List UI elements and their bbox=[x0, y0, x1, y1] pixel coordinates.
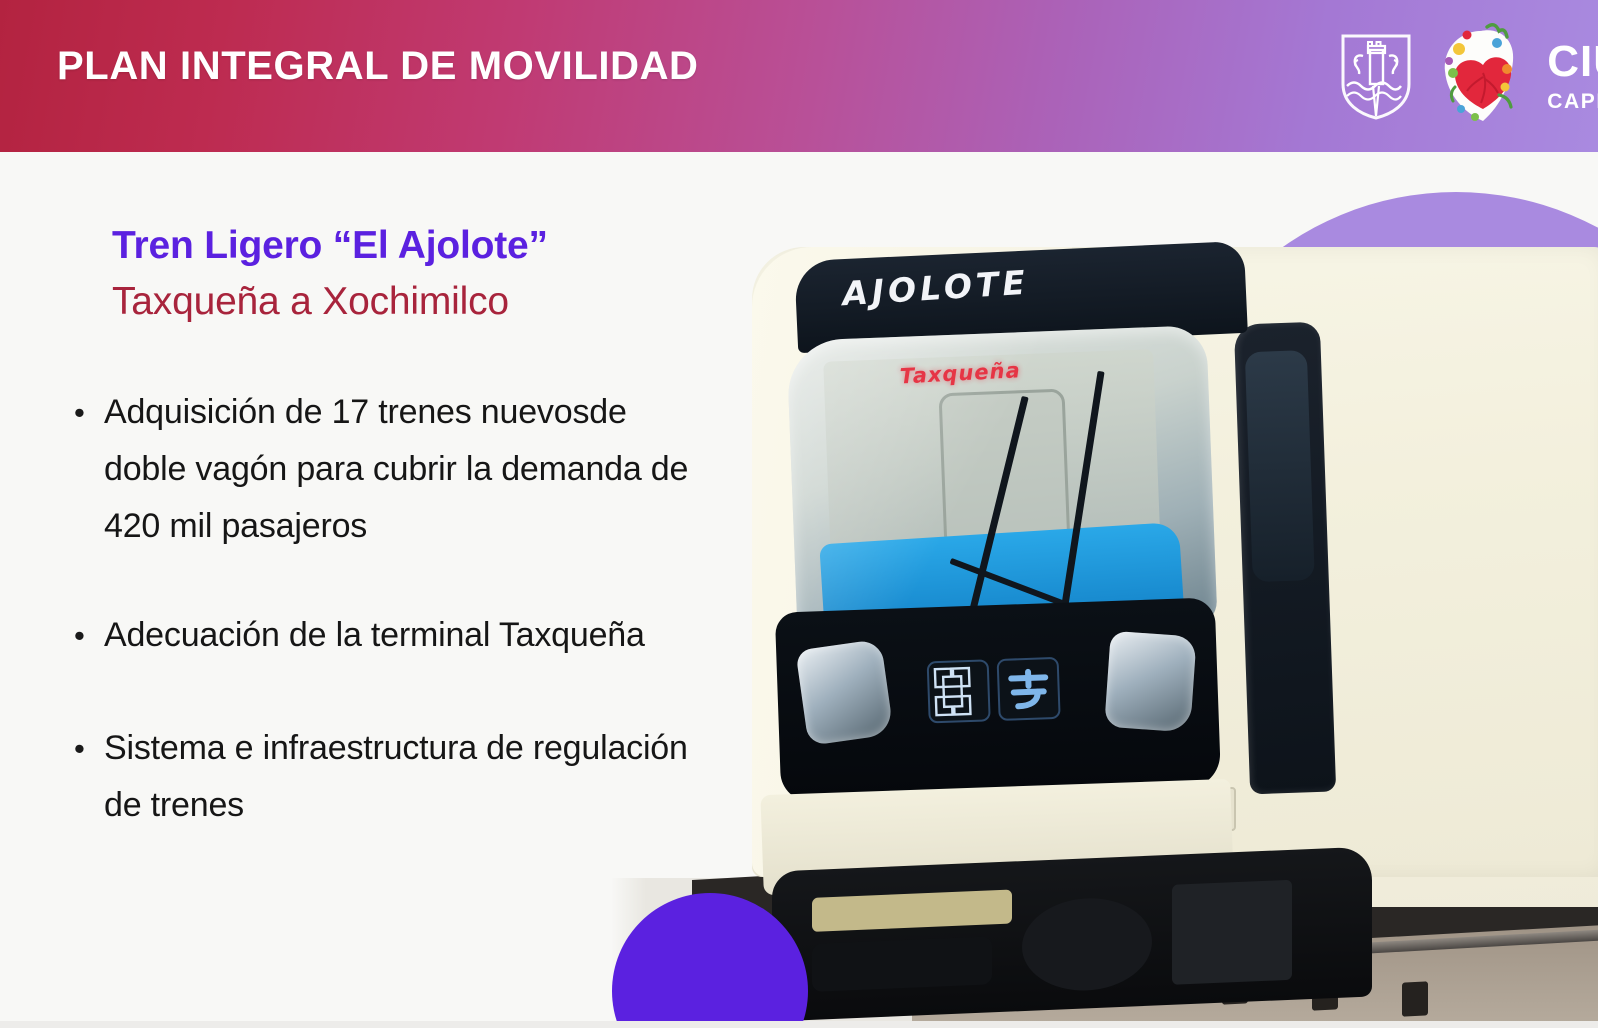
cdmx-coat-of-arms-shield-icon bbox=[1337, 30, 1415, 122]
bullet-list: • Adquisición de 17 trenes nuevosde dobl… bbox=[66, 384, 706, 874]
slide: PLAN INTEGRAL DE MOVILIDAD bbox=[0, 0, 1598, 1028]
train-front-panel bbox=[775, 597, 1221, 802]
list-item: • Sistema e infraestructura de regulació… bbox=[66, 720, 706, 834]
light-rail-train: AJOLOTE Taxqueña bbox=[752, 247, 1598, 907]
list-item: • Adquisición de 17 trenes nuevosde dobl… bbox=[66, 384, 706, 555]
brand-line-1: CIU bbox=[1547, 40, 1598, 84]
bullet-marker-icon: • bbox=[66, 607, 104, 664]
list-item: • Adecuación de la terminal Taxqueña bbox=[66, 607, 706, 664]
train-side-door bbox=[1234, 322, 1336, 795]
content-subtitle: Taxqueña a Xochimilco bbox=[112, 280, 509, 324]
train-bogie bbox=[772, 846, 1372, 1021]
slide-header: PLAN INTEGRAL DE MOVILIDAD bbox=[0, 0, 1598, 152]
content-title: Tren Ligero “El Ajolote” bbox=[112, 224, 548, 268]
list-item-label: Adecuación de la terminal Taxqueña bbox=[104, 607, 645, 664]
headlight-left bbox=[795, 639, 894, 746]
bullet-marker-icon: • bbox=[66, 720, 104, 777]
list-item-label: Sistema e infraestructura de regulación … bbox=[104, 720, 694, 834]
greca-geometric-emblem-icon bbox=[927, 659, 991, 723]
brand-wordmark: CIU CAPIT bbox=[1547, 40, 1598, 112]
header-logo-group: CIU CAPIT bbox=[1337, 0, 1598, 152]
stylized-glyph-emblem-icon bbox=[997, 657, 1061, 721]
train-photo: AJOLOTE Taxqueña bbox=[612, 152, 1598, 1028]
slide-bottom-edge bbox=[0, 1021, 1598, 1028]
brand-line-2: CAPIT bbox=[1547, 91, 1598, 112]
list-item-label: Adquisición de 17 trenes nuevosde doble … bbox=[104, 384, 694, 555]
bullet-marker-icon: • bbox=[66, 384, 104, 441]
page-title: PLAN INTEGRAL DE MOVILIDAD bbox=[57, 44, 699, 89]
headlight-right bbox=[1104, 631, 1196, 733]
cdmx-floral-heart-logo-icon bbox=[1437, 21, 1521, 131]
